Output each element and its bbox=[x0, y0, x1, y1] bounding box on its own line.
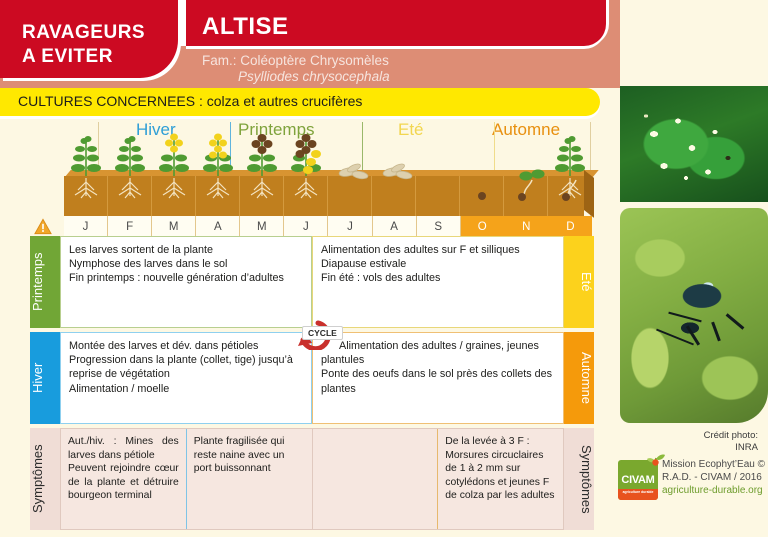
ravageurs-line1: RAVAGEURS bbox=[22, 21, 145, 45]
printemps-line-2: Nymphose des larves dans le sol bbox=[69, 257, 303, 271]
beetle-leg-3 bbox=[726, 313, 745, 329]
ete-line-1: Alimentation des adultes sur F et silliq… bbox=[321, 243, 555, 257]
tab-automne[interactable]: Automne bbox=[564, 332, 594, 424]
tab-symptomes-left[interactable]: Symptômes bbox=[30, 428, 60, 530]
symptom-cell: Plante fragilisée qui reste naine avec u… bbox=[187, 429, 313, 529]
credit-line2: INRA bbox=[620, 442, 758, 454]
logo-line1: Mission Ecophyt’Eau © bbox=[662, 458, 765, 471]
logo-block[interactable]: CIVAM agriculture durable Mission Ecophy… bbox=[618, 458, 768, 506]
month-cell[interactable]: S bbox=[417, 216, 461, 238]
cultures-bar: CULTURES CONCERNEES : colza et autres cr… bbox=[0, 88, 600, 116]
timeline: Hiver Printemps Eté Automne bbox=[30, 120, 610, 238]
month-cell[interactable]: D bbox=[549, 216, 592, 238]
photo-beetle bbox=[620, 208, 768, 423]
month-cell[interactable]: M bbox=[240, 216, 284, 238]
panel-printemps: Les larves sortent de la plante Nymphose… bbox=[60, 236, 312, 328]
tab-ete[interactable]: Eté bbox=[564, 236, 594, 328]
symptoms-row: Aut./hiv. : Mines des larves dans pétiol… bbox=[60, 428, 564, 530]
month-cell[interactable]: J bbox=[284, 216, 328, 238]
panel-hiver: Montée des larves et dév. dans pétioles … bbox=[60, 332, 312, 424]
month-cell[interactable]: J bbox=[64, 216, 108, 238]
page-title: ALTISE bbox=[202, 13, 289, 41]
month-cell[interactable]: O bbox=[461, 216, 505, 238]
ravageurs-label: RAVAGEURS A EVITER bbox=[22, 21, 145, 69]
crop-cycle-illustration bbox=[64, 124, 594, 216]
civam-wordmark: CIVAM bbox=[618, 474, 658, 486]
family-label: Fam.: Coléoptère Chrysomèles bbox=[202, 53, 389, 68]
symptom-cell: Aut./hiv. : Mines des larves dans pétiol… bbox=[61, 429, 187, 529]
hiver-line-1: Montée des larves et dév. dans pétioles bbox=[69, 339, 303, 353]
photo-credit: Crédit photo: INRA bbox=[620, 430, 768, 454]
logo-line3[interactable]: agriculture-durable.org bbox=[662, 484, 765, 497]
printemps-line-1: Les larves sortent de la plante bbox=[69, 243, 303, 257]
page-root: RAVAGEURS A EVITER ALTISE Fam.: Coléoptè… bbox=[0, 0, 768, 537]
ete-line-2: Diapause estivale bbox=[321, 257, 555, 271]
symptom-cell bbox=[313, 429, 439, 529]
automne-line-1: Alimentation des adultes / graines, jeun… bbox=[321, 339, 555, 367]
logo-text: Mission Ecophyt’Eau © R.A.D. - CIVAM / 2… bbox=[662, 458, 765, 497]
cycle-badge: CYCLE bbox=[292, 320, 350, 348]
hiver-line-2: Progression dans la plante (collet, tige… bbox=[69, 353, 303, 381]
tab-printemps[interactable]: Printemps bbox=[30, 236, 60, 328]
beetle-antenna-right bbox=[668, 312, 701, 323]
ete-line-3: Fin été : vols des adultes bbox=[321, 271, 555, 285]
hiver-line-3: Alimentation / moelle bbox=[69, 382, 303, 396]
month-cell[interactable]: A bbox=[373, 216, 417, 238]
cultures-label: CULTURES CONCERNEES : colza et autres cr… bbox=[18, 93, 362, 109]
panel-ete: Alimentation des adultes sur F et silliq… bbox=[312, 236, 564, 328]
month-row: J F M A M J J A S O N D bbox=[64, 216, 592, 238]
logo-line2: R.A.D. - CIVAM / 2016 bbox=[662, 471, 765, 484]
civam-subtitle: agriculture durable bbox=[618, 489, 658, 500]
month-cell[interactable]: J bbox=[328, 216, 372, 238]
credit-line1: Crédit photo: bbox=[620, 430, 758, 442]
species-label: Psylliodes chrysocephala bbox=[238, 69, 390, 84]
month-cell[interactable]: A bbox=[196, 216, 240, 238]
cycle-label: CYCLE bbox=[302, 326, 343, 340]
symptom-cell: De la levée à 3 F : Morsures circuclaire… bbox=[438, 429, 563, 529]
warning-triangle-icon bbox=[34, 218, 52, 235]
tab-hiver[interactable]: Hiver bbox=[30, 332, 60, 424]
month-cell[interactable]: N bbox=[505, 216, 549, 238]
tab-symptomes-right[interactable]: Symptômes bbox=[564, 428, 594, 530]
header: RAVAGEURS A EVITER ALTISE Fam.: Coléoptè… bbox=[0, 0, 768, 88]
ravageurs-line2: A EVITER bbox=[22, 45, 145, 69]
photo-damaged-leaf bbox=[620, 86, 768, 202]
beetle-leg-2 bbox=[711, 322, 721, 342]
automne-line-2: Ponte des oeufs dans le sol près des col… bbox=[321, 367, 555, 395]
month-cell[interactable]: M bbox=[152, 216, 196, 238]
month-cell[interactable]: F bbox=[108, 216, 152, 238]
printemps-line-3: Fin printemps : nouvelle génération d’ad… bbox=[69, 271, 303, 285]
